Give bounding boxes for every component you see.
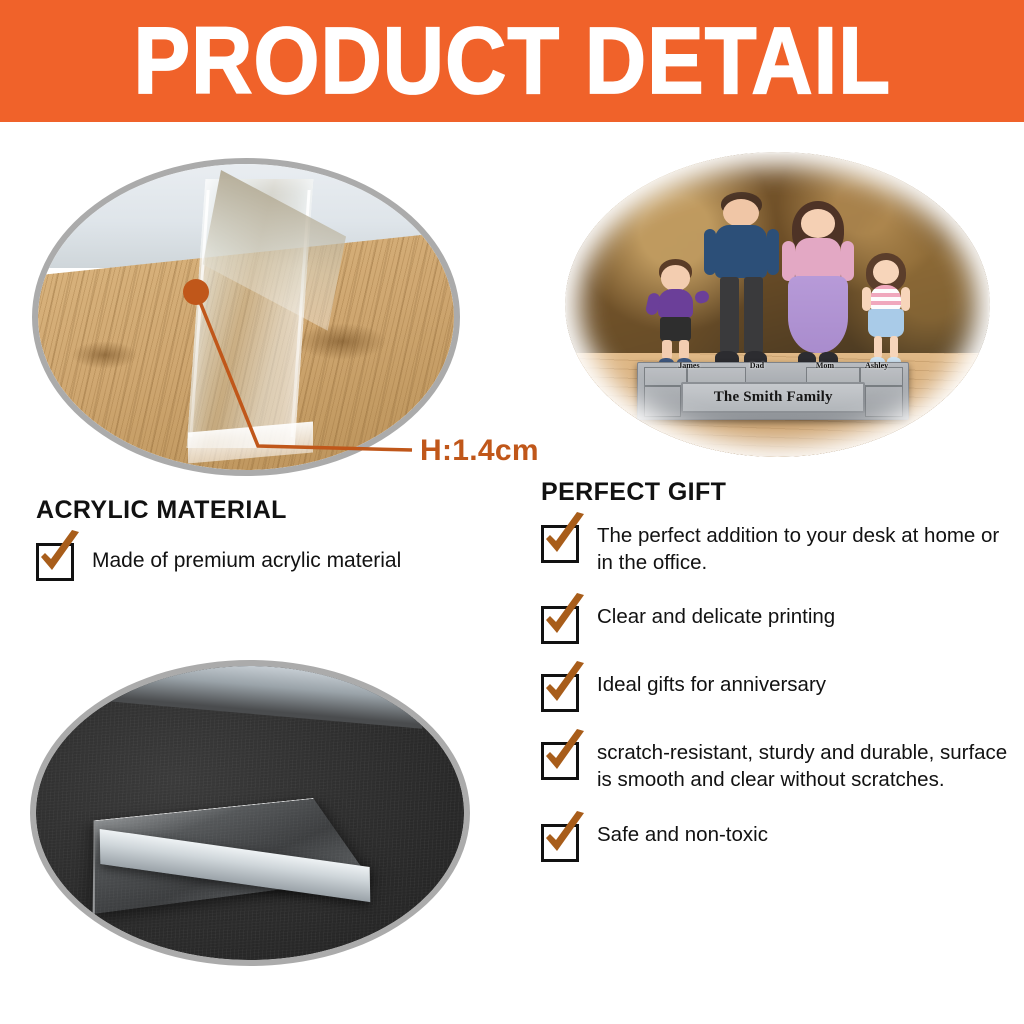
mom-head: [801, 209, 836, 238]
section-heading-acrylic: ACRYLIC MATERIAL: [36, 496, 516, 525]
feature-item: Ideal gifts for anniversary: [541, 672, 1011, 712]
dad-leg-left: [720, 277, 740, 355]
feature-text: Made of premium acrylic material: [92, 547, 401, 574]
figurine-group: The Smith Family James Dad Mom Ashley: [565, 152, 990, 457]
boy-leg-left: [662, 340, 672, 360]
mom-skirt: [788, 276, 849, 353]
feature-item: Clear and delicate printing: [541, 604, 1011, 644]
checkmark-icon: [538, 512, 590, 564]
dad-head: [723, 199, 759, 227]
feature-text: Clear and delicate printing: [597, 604, 835, 631]
girl-arm-left: [862, 287, 871, 310]
checkbox-checked-icon[interactable]: [541, 674, 579, 712]
checkmark-icon: [538, 661, 590, 713]
figurine-name-row: James Dad Mom Ashley: [637, 361, 909, 373]
family-figurine-scene: The Smith Family James Dad Mom Ashley: [565, 152, 990, 457]
section-heading-gift: PERFECT GIFT: [541, 478, 1011, 507]
feature-text: Ideal gifts for anniversary: [597, 672, 826, 699]
wood-grain-knot: [71, 341, 138, 369]
name-tag-ashley: Ashley: [865, 361, 888, 370]
checkmark-icon: [538, 811, 590, 863]
image-family-figurine: The Smith Family James Dad Mom Ashley: [565, 152, 990, 457]
name-tag-james: James: [678, 361, 699, 370]
name-tag-dad: Dad: [750, 361, 764, 370]
girl-arm-right: [901, 287, 910, 310]
feature-list-acrylic: Made of premium acrylic material: [36, 541, 516, 581]
slate-scene: [36, 666, 464, 960]
acrylic-slab-scene: [36, 666, 464, 960]
dad-leg-right: [744, 277, 764, 355]
figurine-dad: [705, 192, 777, 369]
feature-text: The perfect addition to your desk at hom…: [597, 523, 1011, 576]
checkbox-checked-icon[interactable]: [541, 606, 579, 644]
section-perfect-gift: PERFECT GIFT The perfect addition to you…: [541, 478, 1011, 890]
figurine-mom: [782, 201, 854, 369]
figurine-boy: [646, 259, 706, 369]
mom-arm-right: [841, 241, 854, 281]
boy-shirt: [658, 289, 694, 318]
boy-leg-right: [679, 340, 689, 360]
checkbox-checked-icon[interactable]: [541, 824, 579, 862]
product-detail-page: PRODUCT DETAIL: [0, 0, 1024, 1024]
checkbox-checked-icon[interactable]: [541, 742, 579, 780]
acrylic-edge-scene: [38, 164, 454, 470]
checkbox-checked-icon[interactable]: [541, 525, 579, 563]
girl-head: [873, 260, 900, 284]
figurine-girl: [858, 253, 913, 369]
header-banner: PRODUCT DETAIL: [0, 0, 1024, 122]
girl-leg-left: [874, 336, 882, 359]
boy-head: [661, 265, 691, 290]
family-name-plaque: The Smith Family: [681, 382, 865, 413]
feature-item: scratch-resistant, sturdy and durable, s…: [541, 740, 1011, 793]
checkbox-checked-icon[interactable]: [36, 543, 74, 581]
boy-shorts: [660, 317, 691, 341]
feature-item: The perfect addition to your desk at hom…: [541, 523, 1011, 576]
section-acrylic-material: ACRYLIC MATERIAL Made of premium acrylic…: [36, 496, 516, 581]
page-title: PRODUCT DETAIL: [133, 14, 891, 108]
girl-striped-top: [870, 285, 901, 310]
image-acrylic-edge: [32, 158, 460, 476]
feature-text: Safe and non-toxic: [597, 822, 768, 849]
checkmark-icon: [538, 593, 590, 645]
girl-leg-right: [890, 336, 898, 359]
wood-table-scene: [38, 164, 454, 470]
mom-arm-left: [782, 241, 795, 281]
dad-arm-left: [704, 229, 716, 275]
checkmark-icon: [538, 729, 590, 781]
checkmark-icon: [33, 530, 85, 582]
feature-item: Made of premium acrylic material: [36, 541, 516, 581]
feature-list-gift: The perfect addition to your desk at hom…: [541, 523, 1011, 862]
dad-arm-right: [767, 229, 779, 275]
family-name-text: The Smith Family: [714, 389, 833, 406]
girl-skirt: [868, 309, 903, 337]
stone-brick: [865, 386, 903, 417]
callout-label-height: H:1.4cm: [420, 434, 539, 468]
mom-top: [795, 238, 841, 280]
wood-grain-knot: [296, 323, 388, 360]
image-acrylic-slab: [30, 660, 470, 966]
feature-text: scratch-resistant, sturdy and durable, s…: [597, 740, 1011, 793]
dad-polo-shirt: [715, 225, 767, 278]
name-tag-mom: Mom: [816, 361, 834, 370]
stone-brick: [644, 386, 682, 417]
feature-item: Safe and non-toxic: [541, 822, 1011, 862]
